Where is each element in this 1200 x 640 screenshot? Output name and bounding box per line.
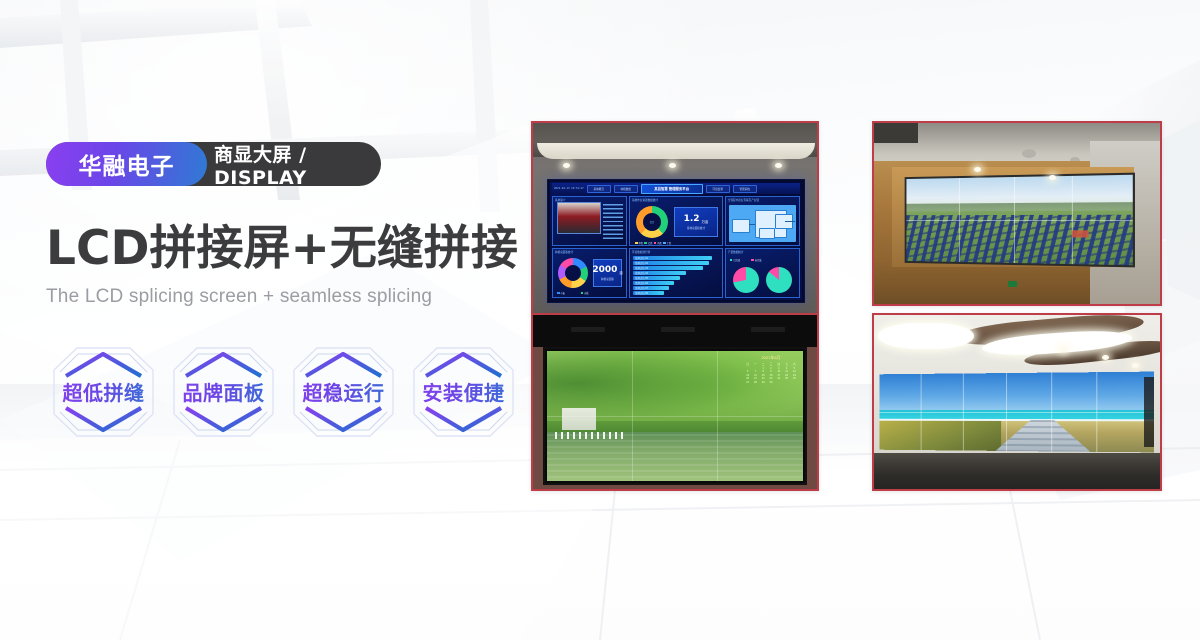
feature-badge-label: 超稳运行 bbox=[284, 377, 403, 406]
product-photo-card: 2021-04-13 10:31:27 基地概况 种植数据 某县智慧 管理服务平… bbox=[531, 121, 819, 315]
dashboard-panel: 产量数据统计 已完成 未完成 bbox=[725, 248, 800, 298]
dashboard-screen-content: 2021-04-13 10:31:27 基地概况 种植数据 某县智慧 管理服务平… bbox=[550, 182, 802, 300]
kpi-caption: 种植总面积 bbox=[601, 277, 614, 281]
brand-badge-label: 华融电子 bbox=[79, 147, 175, 181]
product-photo-card: 2021年6月 日一二三四五六 12345 6789101112 1314151… bbox=[531, 313, 819, 491]
panel-photo bbox=[557, 202, 601, 234]
brand-badge-row: 华融电子 商显大屏 / DISPLAY bbox=[46, 142, 381, 186]
dashboard-panel: 全流程中农业互联互产业链 bbox=[725, 196, 800, 246]
chart-legend: 已完成 未完成 bbox=[730, 258, 796, 262]
solar-panel-rows bbox=[906, 215, 1132, 266]
calendar-overlay: 2021年6月 日一二三四五六 12345 6789101112 1314151… bbox=[744, 355, 798, 395]
product-photo-card bbox=[872, 121, 1162, 306]
dashboard-header: 2021-04-13 10:31:27 基地概况 种植数据 某县智慧 管理服务平… bbox=[552, 183, 800, 194]
panel-paragraph-lines bbox=[603, 204, 623, 241]
video-wall-screen: 2021年6月 日一二三四五六 12345 6789101112 1314151… bbox=[543, 347, 807, 485]
dashboard-panel: 基地简介 bbox=[552, 196, 627, 246]
ceiling-spotlight bbox=[775, 163, 782, 168]
video-wall-screen: 2021-04-13 10:31:27 基地概况 种植数据 某县智慧 管理服务平… bbox=[547, 179, 805, 303]
headline-title: LCD拼接屏+无缝拼接 bbox=[46, 224, 516, 274]
feature-badge: 安装便捷 bbox=[404, 336, 523, 448]
feature-badge-label: 安装便捷 bbox=[404, 377, 523, 406]
ceiling-spotlight bbox=[669, 163, 676, 168]
dashboard-panel-title: 产量数据统计 bbox=[728, 250, 744, 254]
lake-scene: 2021年6月 日一二三四五六 12345 6789101112 1314151… bbox=[547, 351, 803, 481]
dashboard-nav-item: 管理系统 bbox=[733, 185, 757, 193]
calendar-title: 2021年6月 bbox=[744, 355, 798, 361]
dashboard-nav-item: 环境监测 bbox=[706, 185, 730, 193]
headline-block: 华融电子 商显大屏 / DISPLAY LCD拼接屏+无缝拼接 The LCD … bbox=[46, 142, 516, 308]
donut-chart bbox=[558, 258, 588, 288]
chart-legend: 小麦 水稻 玉米 棉花 油菜 其他 bbox=[557, 291, 623, 298]
ceiling-recess bbox=[874, 123, 918, 143]
category-badge-label: 商显大屏 / DISPLAY bbox=[214, 142, 381, 186]
kpi-unit: 万亩 bbox=[702, 219, 709, 224]
pie-chart bbox=[766, 267, 792, 293]
water-reflection bbox=[547, 434, 803, 481]
kpi-tile: 2000 亩 种植总面积 bbox=[593, 259, 622, 287]
kpi-value: 1.2 bbox=[684, 215, 700, 224]
screen-top-bezel bbox=[533, 315, 817, 347]
promo-banner: 华融电子 商显大屏 / DISPLAY LCD拼接屏+无缝拼接 The LCD … bbox=[0, 0, 1200, 640]
kpi-tile: 1.2 万亩 基地总面积统计 bbox=[674, 207, 718, 237]
wall-column bbox=[1144, 377, 1154, 447]
kpi-caption: 基地总面积统计 bbox=[687, 226, 705, 230]
dune-grass bbox=[879, 421, 1001, 451]
feature-badge-label: 品牌面板 bbox=[164, 377, 283, 406]
ceiling-cove bbox=[537, 143, 815, 159]
exit-sign bbox=[1008, 281, 1017, 287]
lobby-floor bbox=[874, 453, 1160, 489]
chart-legend: 甲类 乙类 丙类 丁类 bbox=[635, 241, 707, 245]
pavilion bbox=[562, 408, 596, 430]
brand-badge: 华融电子 bbox=[46, 142, 207, 186]
kpi-unit: 亩 bbox=[619, 270, 622, 275]
video-wall-screen bbox=[905, 173, 1135, 268]
feature-badge-list: 超低拼缝 品牌面板 bbox=[44, 336, 523, 448]
feature-badge: 超稳运行 bbox=[284, 336, 403, 448]
red-roof-building bbox=[1072, 231, 1089, 238]
feature-badge-label: 超低拼缝 bbox=[44, 377, 163, 406]
railing bbox=[555, 432, 625, 439]
dashboard-nav-item: 基地概况 bbox=[587, 185, 611, 193]
dashboard-panel-title: 种植总面积统计 bbox=[555, 250, 573, 254]
dashboard-panel-grid: 基地简介 基地作业资源数据统计 合计 1 bbox=[552, 196, 800, 298]
video-wall-screen bbox=[879, 372, 1154, 453]
product-photo-card bbox=[872, 313, 1162, 491]
dashboard-title: 某县智慧 管理服务平台 bbox=[641, 184, 703, 194]
feature-badge: 品牌面板 bbox=[164, 336, 283, 448]
ceiling-light-cove bbox=[878, 323, 974, 349]
dashboard-timestamp: 2021-04-13 10:31:27 bbox=[554, 187, 584, 190]
feature-badge: 超低拼缝 bbox=[44, 336, 163, 448]
kpi-value: 2000 bbox=[592, 266, 617, 275]
dashboard-nav-item: 种植数据 bbox=[614, 185, 638, 193]
donut-center-label: 合计 bbox=[643, 213, 661, 231]
dashboard-panel: 基地作业资源数据统计 合计 1.2 万亩 基地总面积统计 bbox=[629, 196, 723, 246]
pie-chart bbox=[733, 267, 759, 293]
dashboard-panel: 种植总面积统计 2000 亩 种植总面积 bbox=[552, 248, 627, 298]
ceiling-speaker bbox=[1022, 149, 1036, 158]
dashboard-panel-title: 环境数据排行榜 bbox=[632, 250, 650, 254]
headline-subtitle: The LCD splicing screen + seamless splic… bbox=[46, 286, 516, 308]
donut-chart: 合计 bbox=[636, 206, 668, 238]
ceiling-spotlight bbox=[563, 163, 570, 168]
dashboard-panel-title: 基地作业资源数据统计 bbox=[632, 198, 658, 202]
dashboard-panel: 环境数据排行榜 监测点位 01 监测点位 02 监测点位 03 监测点位 04 … bbox=[629, 248, 723, 298]
flow-diagram bbox=[729, 205, 796, 242]
calendar-grid: 日一二三四五六 12345 6789101112 13141516171819 … bbox=[744, 362, 798, 384]
bar-chart-list: 监测点位 01 监测点位 02 监测点位 03 监测点位 04 监测点位 05 … bbox=[633, 256, 719, 295]
dashboard-panel-title: 全流程中农业互联互产业链 bbox=[728, 198, 759, 202]
